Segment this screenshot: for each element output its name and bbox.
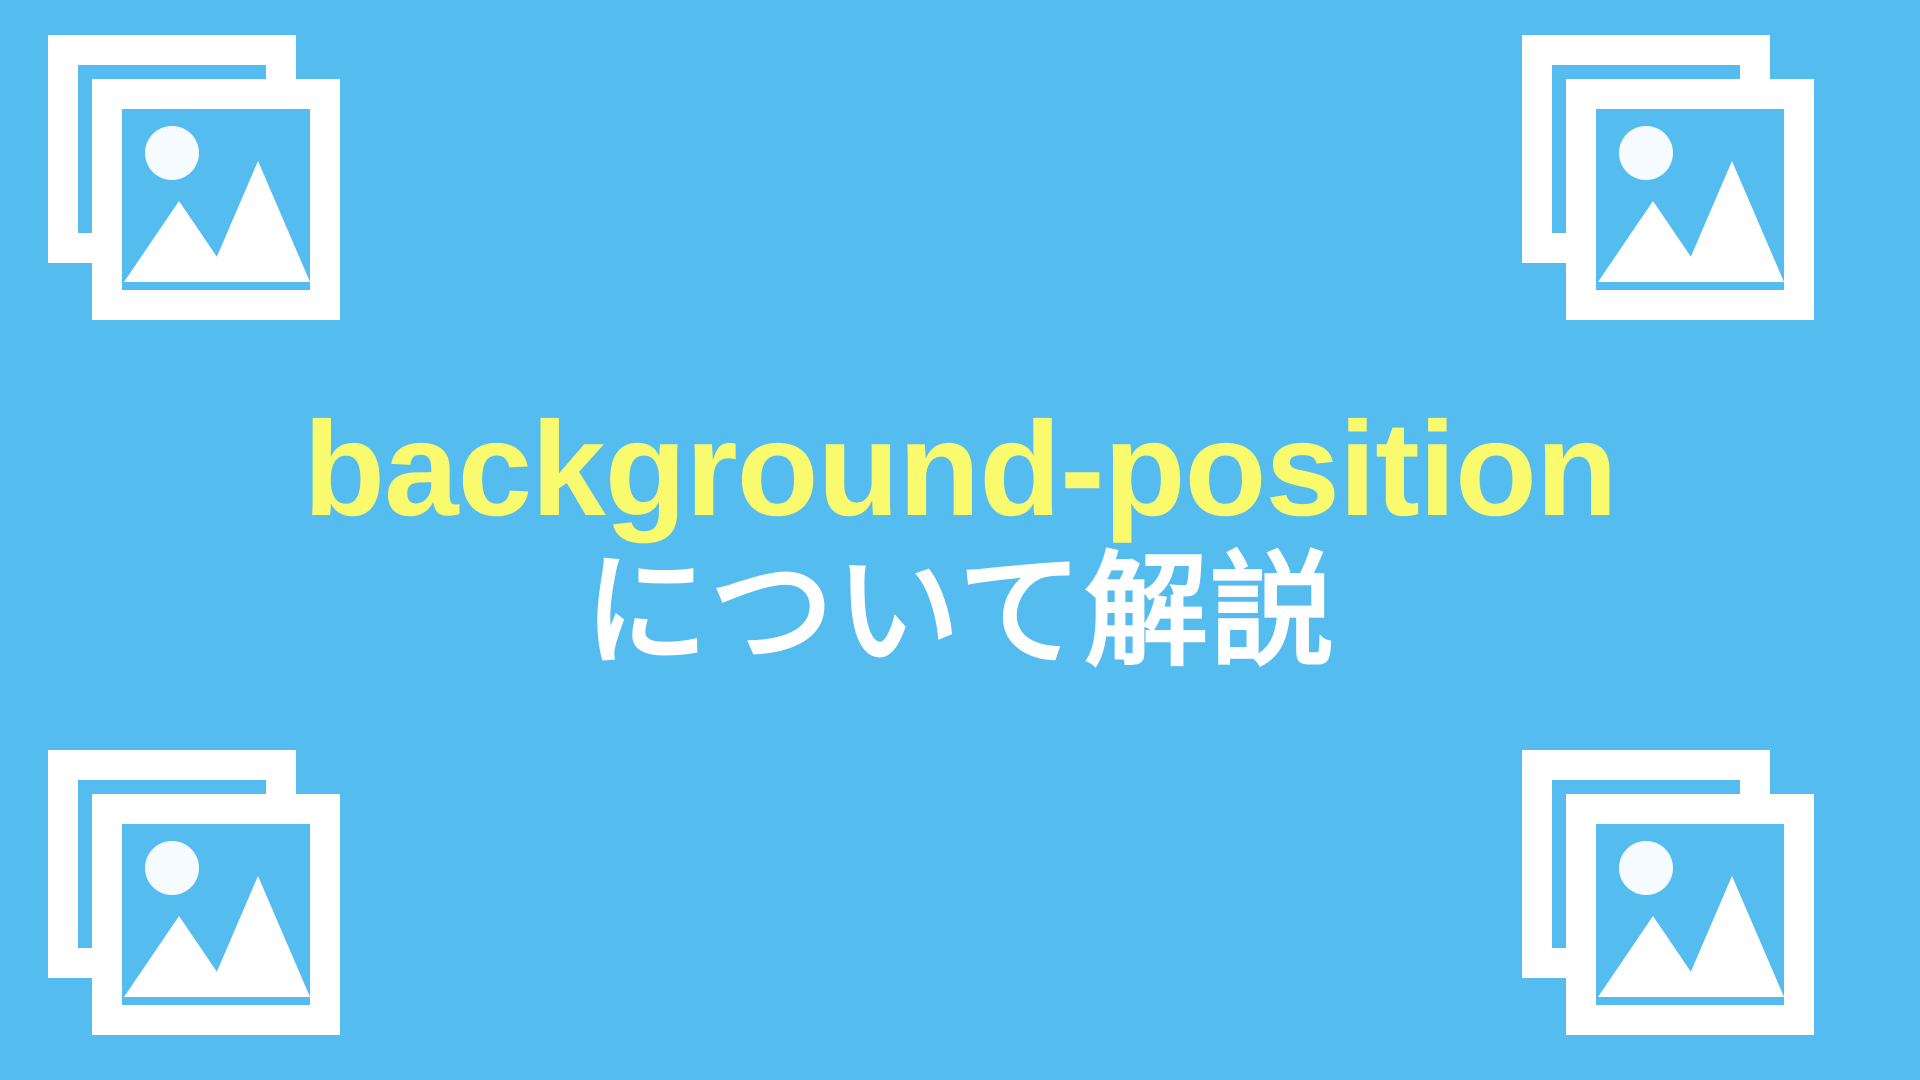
banner-canvas: background-position について解説 [0, 0, 1920, 1080]
page-title-latin: background-position [303, 398, 1616, 543]
headline-block: background-position について解説 [0, 0, 1920, 1080]
page-title-japanese: について解説 [584, 543, 1336, 682]
